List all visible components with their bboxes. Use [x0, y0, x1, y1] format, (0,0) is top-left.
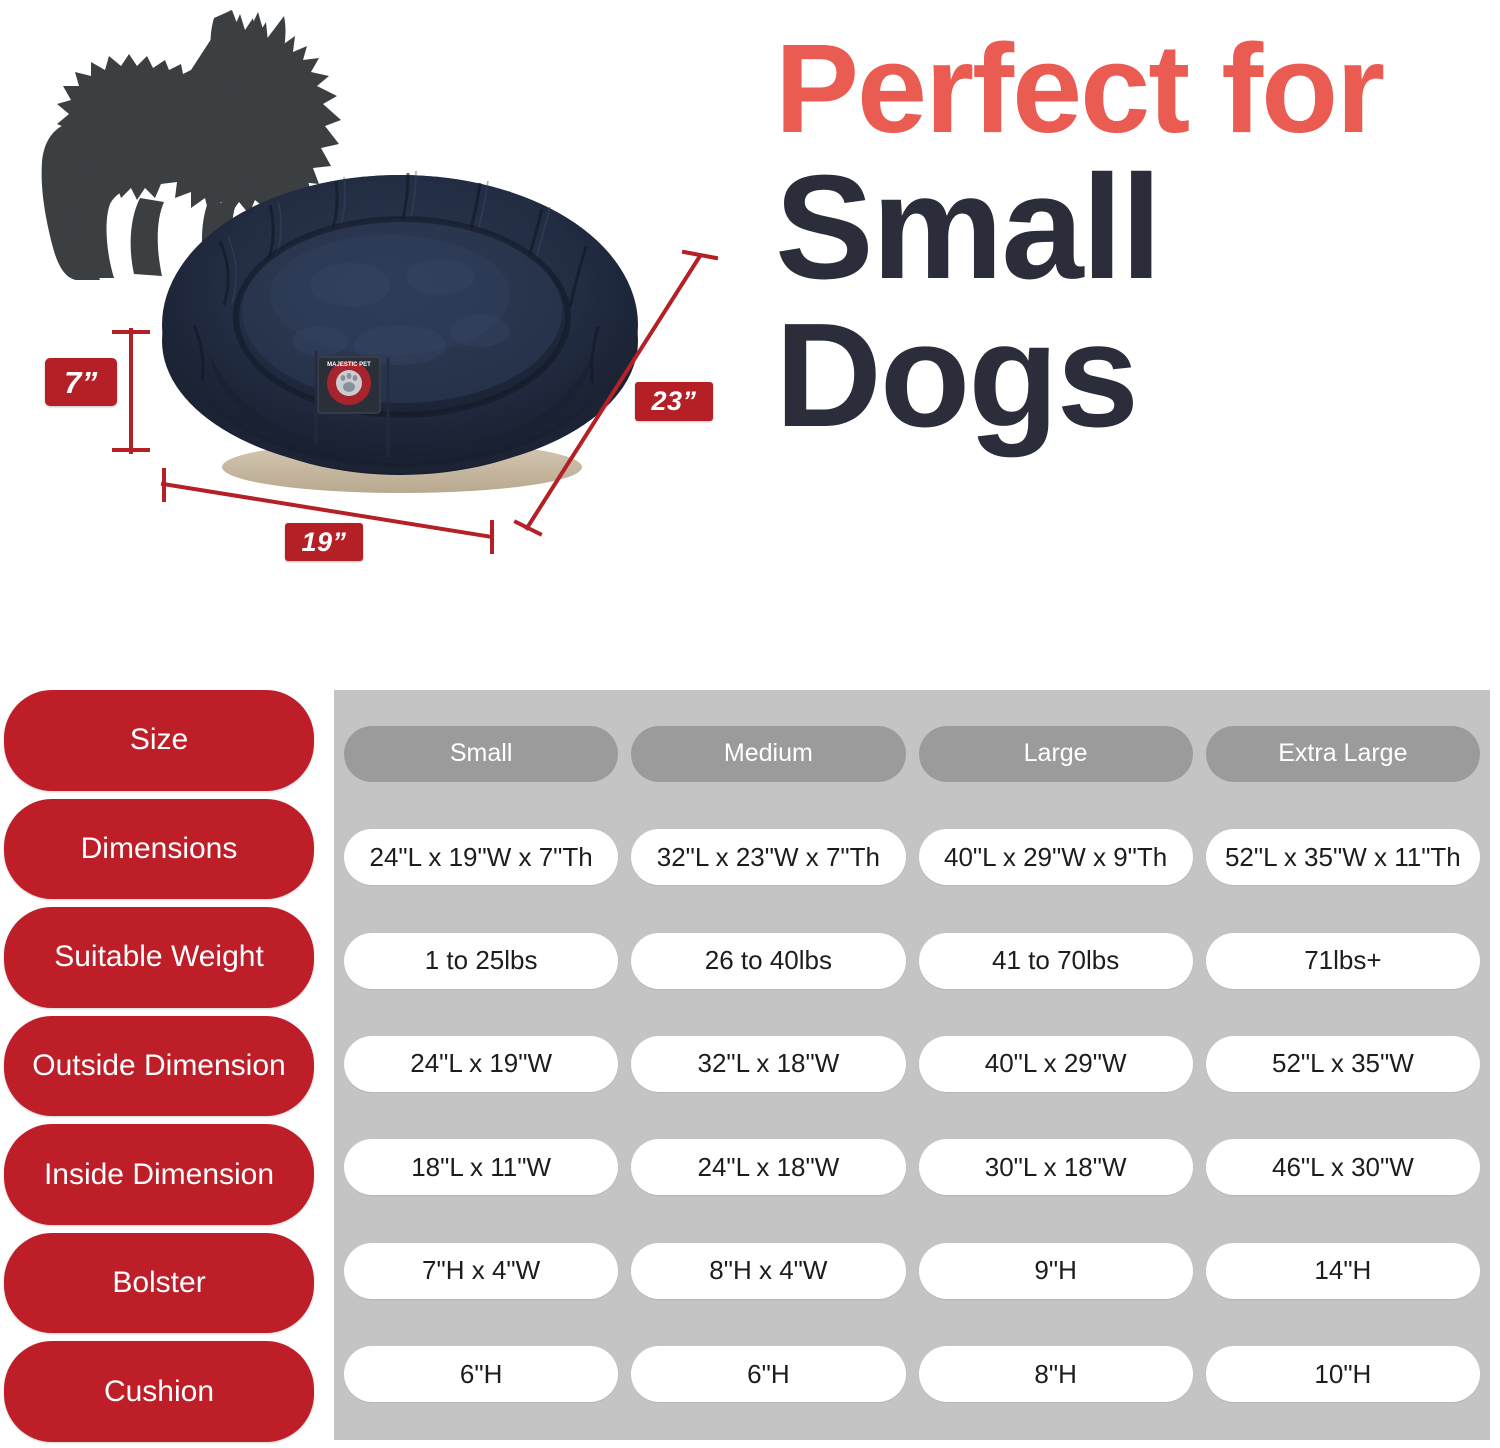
cell-bolster-large: 9"H	[919, 1243, 1193, 1299]
svg-text:MAJESTIC PET: MAJESTIC PET	[327, 362, 371, 368]
table-row: 6"H 6"H 8"H 10"H	[344, 1323, 1480, 1426]
column-header-large: Large	[919, 726, 1193, 782]
cell-dimensions-extra-large: 52"L x 35"W x 11"Th	[1206, 829, 1480, 885]
column-header-extra-large: Extra Large	[1206, 726, 1480, 782]
cell-inside-medium: 24"L x 18"W	[631, 1139, 905, 1195]
cell-dimensions-large: 40"L x 29"W x 9"Th	[919, 829, 1193, 885]
cell-cushion-large: 8"H	[919, 1346, 1193, 1402]
cell-dimensions-medium: 32"L x 23"W x 7"Th	[631, 829, 905, 885]
row-label-bolster: Bolster	[4, 1233, 314, 1334]
cell-dimensions-small: 24"L x 19"W x 7"Th	[344, 829, 618, 885]
cell-outside-medium: 32"L x 18"W	[631, 1036, 905, 1092]
cell-bolster-small: 7"H x 4"W	[344, 1243, 618, 1299]
row-label-cushion: Cushion	[4, 1341, 314, 1442]
row-label-dimensions: Dimensions	[4, 799, 314, 900]
value-panel: Small Medium Large Extra Large 24"L x 19…	[334, 690, 1490, 1440]
specification-table: Size Dimensions Suitable Weight Outside …	[0, 690, 1500, 1442]
table-row: 18"L x 11"W 24"L x 18"W 30"L x 18"W 46"L…	[344, 1116, 1480, 1219]
row-label-suitable-weight: Suitable Weight	[4, 907, 314, 1008]
hero-section: MAJESTIC PET 7”	[0, 0, 1500, 660]
row-label-inside-dimension: Inside Dimension	[4, 1124, 314, 1225]
cell-outside-extra-large: 52"L x 35"W	[1206, 1036, 1480, 1092]
column-header-medium: Medium	[631, 726, 905, 782]
cell-inside-small: 18"L x 11"W	[344, 1139, 618, 1195]
dimension-badge-height: 7”	[45, 358, 117, 406]
cell-outside-large: 40"L x 29"W	[919, 1036, 1193, 1092]
cell-weight-medium: 26 to 40lbs	[631, 933, 905, 989]
headline-line-1: Perfect for	[775, 30, 1490, 147]
table-row: 24"L x 19"W 32"L x 18"W 40"L x 29"W 52"L…	[344, 1012, 1480, 1115]
dimension-badge-width: 19”	[285, 523, 363, 561]
cell-bolster-medium: 8"H x 4"W	[631, 1243, 905, 1299]
cell-weight-extra-large: 71lbs+	[1206, 933, 1480, 989]
cell-weight-small: 1 to 25lbs	[344, 933, 618, 989]
table-row: 7"H x 4"W 8"H x 4"W 9"H 14"H	[344, 1219, 1480, 1322]
headline-line-2: Small	[775, 159, 1490, 297]
dimension-badge-length: 23”	[635, 382, 713, 421]
cell-cushion-medium: 6"H	[631, 1346, 905, 1402]
cell-inside-extra-large: 46"L x 30"W	[1206, 1139, 1480, 1195]
cell-bolster-extra-large: 14"H	[1206, 1243, 1480, 1299]
table-row: 1 to 25lbs 26 to 40lbs 41 to 70lbs 71lbs…	[344, 909, 1480, 1012]
headline: Perfect for Small Dogs	[775, 30, 1490, 444]
row-label-outside-dimension: Outside Dimension	[4, 1016, 314, 1117]
row-label-column: Size Dimensions Suitable Weight Outside …	[4, 690, 314, 1442]
product-photo-dog-bed: MAJESTIC PET	[150, 145, 650, 505]
cell-cushion-extra-large: 10"H	[1206, 1346, 1480, 1402]
column-header-small: Small	[344, 726, 618, 782]
cell-cushion-small: 6"H	[344, 1346, 618, 1402]
table-header-row: Small Medium Large Extra Large	[344, 702, 1480, 805]
headline-line-3: Dogs	[775, 307, 1490, 445]
cell-inside-large: 30"L x 18"W	[919, 1139, 1193, 1195]
row-label-size: Size	[4, 690, 314, 791]
table-row: 24"L x 19"W x 7"Th 32"L x 23"W x 7"Th 40…	[344, 805, 1480, 908]
cell-outside-small: 24"L x 19"W	[344, 1036, 618, 1092]
cell-weight-large: 41 to 70lbs	[919, 933, 1193, 989]
